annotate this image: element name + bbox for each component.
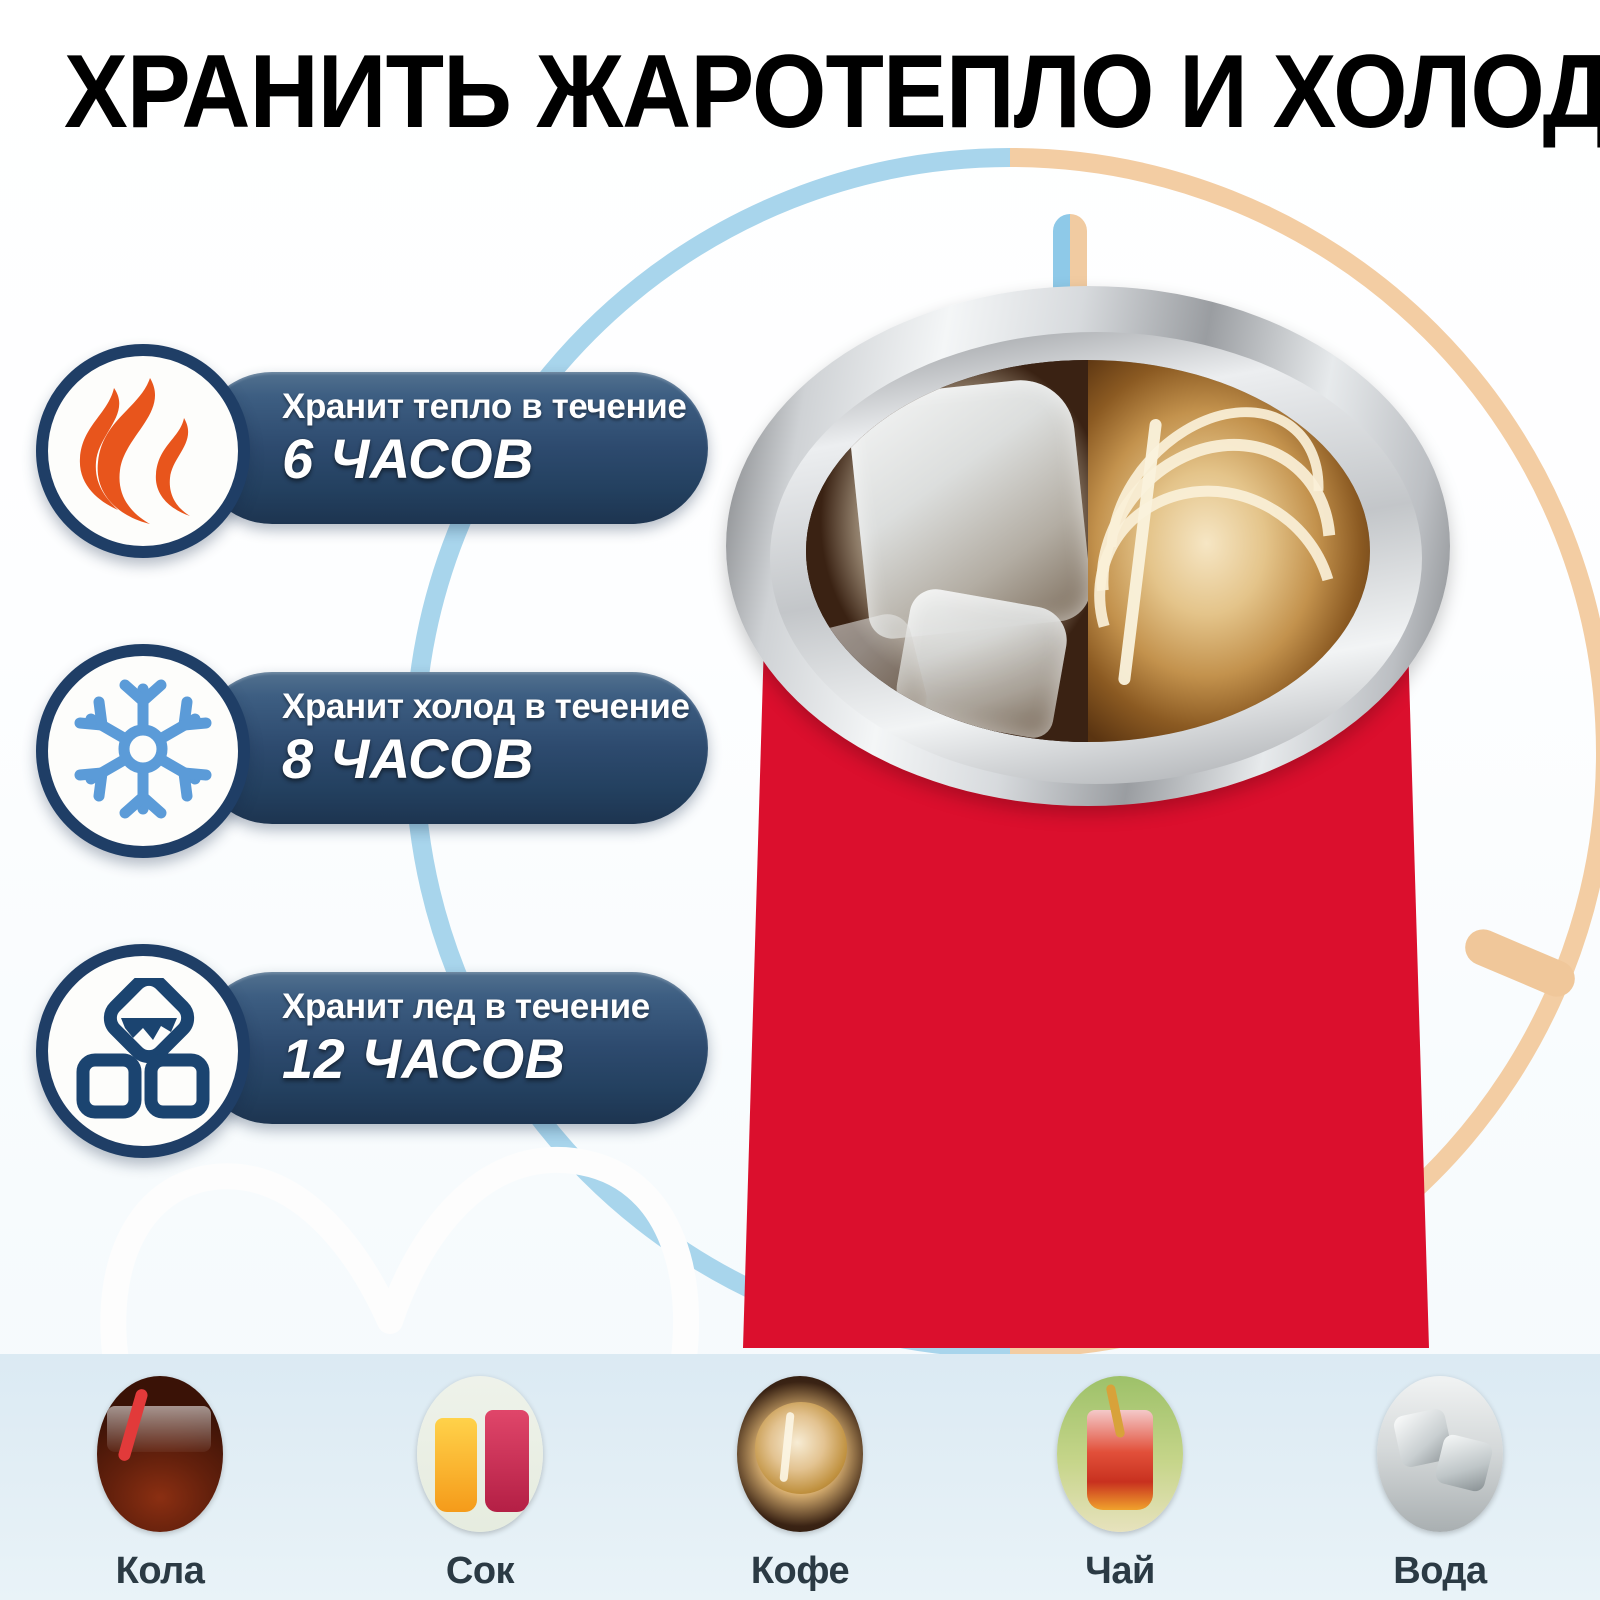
feature-caption: Хранит холод в течение [282,689,682,726]
coffee-thumbnail [737,1376,863,1532]
feature-caption: Хранит лед в течение [282,989,682,1026]
drink-label: Кола [116,1550,205,1593]
drink-item-water[interactable]: Вода [1280,1354,1600,1600]
feature-icon-circle [36,344,250,558]
feature-icon-circle [36,644,250,858]
feature-pill: Хранит лед в течение 12 ЧАСОВ [196,972,708,1124]
snowflake-icon [73,679,213,824]
drink-item-coffee[interactable]: Кофе [640,1354,960,1600]
ice-cube-icon [73,978,213,1125]
product-tumbler [718,276,1458,1348]
feature-pill: Хранит холод в течение 8 ЧАСОВ [196,672,708,824]
drink-label: Кофе [751,1550,849,1593]
hot-latte-half [1088,360,1370,742]
drink-label: Чай [1085,1550,1155,1593]
feature-pill: Хранит тепло в течение 6 ЧАСОВ [196,372,708,524]
page-title: ХРАНИТЬ ЖАРОТЕПЛО И ХОЛОД [64,38,1536,147]
drink-item-tea[interactable]: Чай [960,1354,1280,1600]
juice-thumbnail [417,1376,543,1532]
water-thumbnail [1377,1376,1503,1532]
cola-thumbnail [97,1376,223,1532]
iced-coffee-half [806,360,1088,742]
ice-cube [892,585,1072,741]
feature-caption: Хранит тепло в течение [282,389,682,426]
feature-duration: 6 ЧАСОВ [282,430,682,489]
feature-duration: 12 ЧАСОВ [282,1030,682,1089]
tumbler-contents [806,360,1370,742]
feature-icon-circle [36,944,250,1158]
drink-label: Вода [1393,1550,1486,1593]
compatible-drinks-strip: Кола Сок Кофе Чай Вода [0,1354,1600,1600]
drink-item-cola[interactable]: Кола [0,1354,320,1600]
feature-duration: 8 ЧАСОВ [282,730,682,789]
flame-icon [74,374,212,529]
infographic-stage: ХРАНИТЬ ЖАРОТЕПЛО И ХОЛОД [0,0,1600,1600]
tea-thumbnail [1057,1376,1183,1532]
drink-item-juice[interactable]: Сок [320,1354,640,1600]
drink-label: Сок [446,1550,514,1593]
